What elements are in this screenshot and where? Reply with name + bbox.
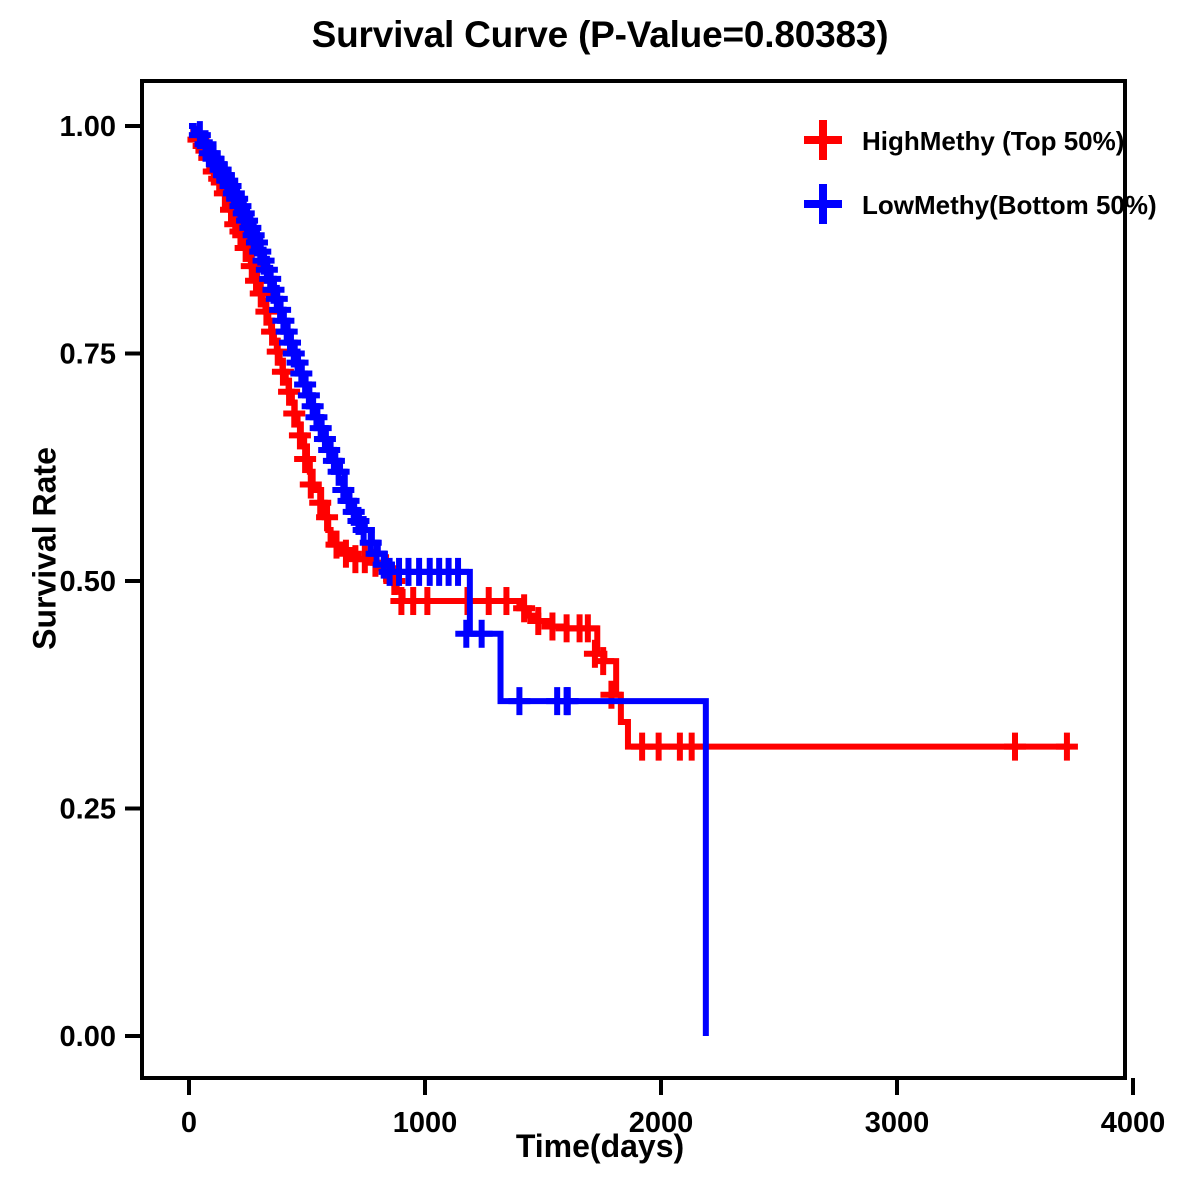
y-tick-label: 0.25 bbox=[60, 794, 116, 826]
censor-marks bbox=[189, 121, 579, 715]
plus-marker-icon bbox=[804, 184, 842, 224]
y-tick-label: 0.50 bbox=[60, 566, 116, 598]
plus-marker-icon bbox=[804, 120, 842, 160]
survival-series-group bbox=[187, 121, 1077, 1036]
x-tick-label: 1000 bbox=[393, 1107, 458, 1139]
plot-area: 01000200030004000 0.000.250.500.751.00 H… bbox=[0, 0, 1200, 1200]
survival-curve-figure: Survival Curve (P-Value=0.80383) Surviva… bbox=[0, 0, 1200, 1200]
x-tick-label: 0 bbox=[181, 1107, 197, 1139]
x-axis-ticks: 01000200030004000 bbox=[181, 1078, 1165, 1139]
y-tick-label: 1.00 bbox=[60, 111, 116, 143]
x-tick-label: 3000 bbox=[865, 1107, 930, 1139]
legend-item-lowmethy[interactable]: LowMethy(Bottom 50%) bbox=[804, 184, 1157, 224]
x-tick-label: 2000 bbox=[629, 1107, 694, 1139]
plot-frame bbox=[142, 81, 1125, 1078]
legend-label: LowMethy(Bottom 50%) bbox=[862, 190, 1157, 220]
legend-label: HighMethy (Top 50%) bbox=[862, 126, 1124, 156]
survival-curve-low bbox=[189, 121, 706, 1036]
censor-marks bbox=[187, 126, 1077, 761]
y-tick-label: 0.00 bbox=[60, 1021, 116, 1053]
y-tick-label: 0.75 bbox=[60, 339, 116, 371]
legend-item-highmethy[interactable]: HighMethy (Top 50%) bbox=[804, 120, 1124, 160]
y-axis-ticks: 0.000.250.500.751.00 bbox=[60, 111, 142, 1053]
survival-curve-high bbox=[187, 126, 1077, 761]
chart-legend: HighMethy (Top 50%)LowMethy(Bottom 50%) bbox=[804, 120, 1157, 224]
x-tick-label: 4000 bbox=[1101, 1107, 1166, 1139]
